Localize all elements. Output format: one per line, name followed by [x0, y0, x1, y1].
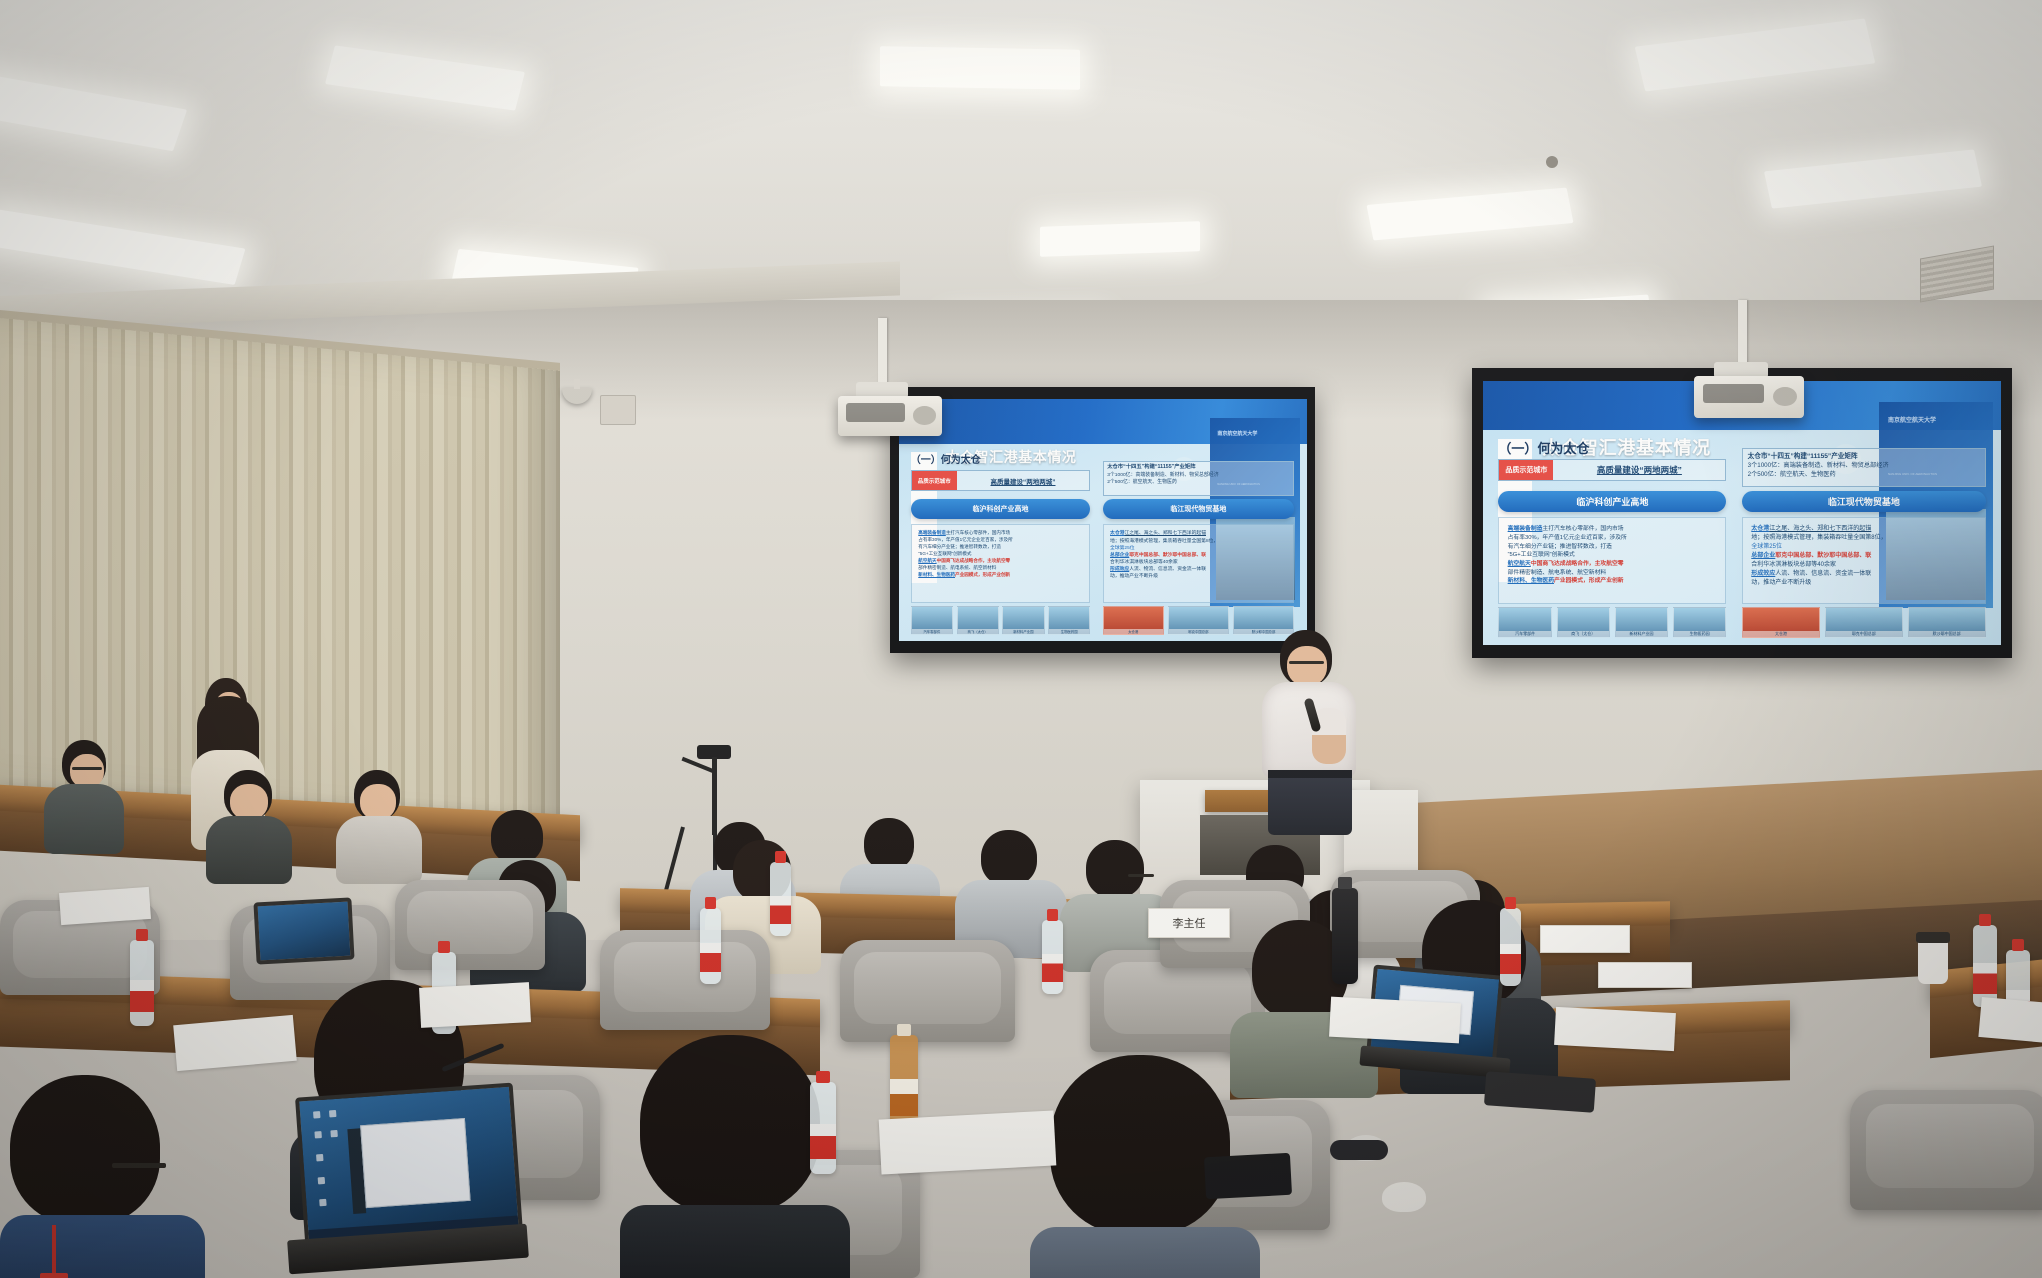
bullet-text: 部件精密制造、航电系统、航空新材料	[918, 565, 1082, 572]
tea-bottle[interactable]	[890, 1035, 918, 1131]
thumbnail-caption: 太仓港	[1743, 631, 1819, 637]
attendee-torso	[1030, 1227, 1260, 1278]
presenter-belt	[1268, 770, 1352, 778]
notepad[interactable]	[879, 1110, 1057, 1174]
bottle-label	[700, 943, 721, 972]
glasses-icon	[1128, 874, 1154, 877]
smartphone[interactable]	[1204, 1153, 1292, 1199]
id-badge	[40, 1273, 68, 1278]
bullet-text: 中国商飞达成战略合作，主攻航空零	[937, 558, 1011, 563]
chair	[600, 930, 770, 1030]
attendee-torso	[44, 784, 124, 854]
bullet-text: “5G+工业互联网”创新模式	[918, 551, 1082, 558]
attendee-face	[360, 784, 396, 820]
thumbnail: 太仓港	[1103, 606, 1164, 635]
block-key: 形成效应	[1751, 571, 1775, 577]
block-text: 耶克中国总部、默沙耶中国总部、联	[1775, 553, 1871, 559]
right-column-heading: 临江现代物贸基地	[1103, 499, 1295, 518]
attendee-head	[1050, 1055, 1230, 1235]
block-text: 地；按照海港模式管理，集装箱吞吐量全国第8位，	[1751, 534, 1976, 543]
thumbnail: 耶克中国总部	[1825, 607, 1903, 639]
tablet-device[interactable]	[1484, 1071, 1596, 1113]
industry-matrix-box: 太仓市“十四五”构建“11155”产业矩阵 3个1000亿：高端装备制造、新材料…	[1103, 461, 1295, 496]
block-text: 江之尾、海之头、郑和七下西洋的起锚	[1769, 526, 1871, 532]
lanyard	[52, 1225, 56, 1277]
ceiling-light-panel	[0, 73, 187, 152]
water-bottle[interactable]	[770, 862, 791, 936]
university-name: 南京航空航天大学	[1888, 415, 1936, 424]
ceiling-light-panel	[1040, 221, 1200, 257]
laptop-foreground[interactable]	[295, 1083, 523, 1248]
fact-line: 太仓市“十四五”构建“11155”产业矩阵	[1748, 452, 1980, 462]
name-placard	[1598, 962, 1692, 988]
bottle-label	[1042, 954, 1063, 982]
thumbnail-caption: 默沙耶中国总部	[1909, 631, 1985, 637]
fact-line: 2个500亿：航空航天、生物医药	[1748, 471, 1980, 480]
fact-line: 3个1000亿：高端装备制造、新材料、物贸总部经济	[1748, 462, 1980, 471]
name-placard: 李主任	[1148, 908, 1230, 938]
block-key: 总部企业	[1110, 553, 1129, 558]
ceiling-light-panel	[880, 46, 1080, 89]
ceiling-light-panel	[1635, 19, 1876, 92]
bottle-label	[1973, 963, 1997, 994]
notepad[interactable]	[1554, 1007, 1676, 1051]
desktop-icon	[331, 1130, 338, 1137]
block-key: 形成效应	[1110, 567, 1129, 572]
thumbnail-caption: 新材料产业园	[1003, 629, 1043, 634]
thumbnail: 生物医药园	[1048, 606, 1090, 635]
attendee	[330, 770, 430, 880]
thumbnail: 耶克中国总部	[1168, 606, 1229, 635]
bottle-label	[770, 896, 791, 924]
right-column-body: 太仓港江之尾、海之头、郑和七下西洋的起锚 地；按照海港模式管理，集装箱吞吐量全国…	[1103, 524, 1295, 604]
ceiling-light-panel	[1764, 149, 1982, 208]
left-thumbnail-strip: 汽车零部件 商飞（太仓） 新材料产业园 生物医药园	[1498, 607, 1726, 639]
block-key: 总部企业	[1751, 553, 1775, 559]
left-column-heading: 临沪科创产业高地	[1498, 491, 1726, 512]
block-text: 人流、物流、信息流、资金流一体联	[1129, 567, 1206, 572]
laptop-mid[interactable]	[253, 897, 354, 964]
bottle-label	[810, 1124, 836, 1159]
tripod-pan-handle	[681, 757, 714, 773]
right-column-body: 太仓港江之尾、海之头、郑和七下西洋的起锚 地；按照海港模式管理，集装箱吞吐量全国…	[1742, 517, 1986, 604]
bottle-cap	[897, 1024, 912, 1036]
block-text: 动，推动产业不断升级	[1110, 573, 1287, 580]
thumbnail: 默沙耶中国总部	[1908, 607, 1986, 639]
block-text: 动，推动产业不断升级	[1751, 579, 1976, 588]
cup-lid	[1916, 932, 1950, 943]
notepad[interactable]	[1329, 997, 1461, 1044]
bullet-key: 高端装备制造	[1508, 526, 1543, 532]
fact-line: 太仓市“十四五”构建“11155”产业矩阵	[1107, 464, 1289, 472]
water-bottle[interactable]	[1042, 920, 1063, 994]
bottle-cap	[775, 851, 786, 863]
notepad[interactable]	[59, 887, 151, 925]
bullet-text: 有汽车细分产业链；推进智转数改，打造	[1508, 543, 1718, 552]
bottle-cap	[438, 941, 450, 953]
slide-left: 一 太仓智汇港基本情况 南京航空航天大学 NANJING UNIV. OF AE…	[899, 399, 1307, 641]
bullet-key: 新材料、生物医药	[918, 572, 955, 577]
attendee-foreground-left	[0, 1075, 210, 1278]
fire-sprinkler	[1546, 156, 1558, 168]
left-thumbnail-strip: 汽车零部件 商飞（太仓） 新材料产业园 生物医药园	[911, 606, 1091, 635]
fact-line: 3个1000亿：高端装备制造、新材料、物贸总部经济	[1107, 472, 1289, 479]
bottle-label	[890, 1079, 918, 1115]
attendee-head	[1086, 840, 1144, 898]
attendee-head	[640, 1035, 820, 1215]
thumbnail-caption: 商飞（太仓）	[1558, 631, 1610, 637]
thumbnail-caption: 太仓港	[1104, 629, 1163, 634]
thumbnail: 生物医药园	[1673, 607, 1727, 639]
bullet-key: 航空航天	[1508, 561, 1531, 567]
thumbnail-caption: 生物医药园	[1049, 629, 1089, 634]
ceiling-light-panel	[325, 45, 525, 110]
attendee-torso	[336, 816, 422, 884]
desktop-icon	[313, 1111, 320, 1118]
chair	[395, 880, 545, 970]
attendee-torso	[206, 816, 292, 884]
water-bottle[interactable]	[130, 940, 154, 1026]
coffee-cup[interactable]	[1918, 940, 1948, 984]
water-bottle[interactable]	[810, 1082, 836, 1174]
notepad[interactable]	[419, 982, 531, 1028]
block-text: 全球第25位	[1110, 545, 1287, 552]
bottle-cap	[1047, 909, 1058, 921]
chair	[840, 940, 1015, 1042]
industry-matrix-box: 太仓市“十四五”构建“11155”产业矩阵 3个1000亿：高端装备制造、新材料…	[1742, 448, 1986, 486]
attendee-torso	[620, 1205, 850, 1278]
ceiling-light-panel	[1367, 188, 1574, 241]
desktop-icon	[314, 1131, 321, 1138]
bullet-text: 部件精密制造、航电系统、航空新材料	[1508, 569, 1718, 578]
microphone-base[interactable]	[1330, 1140, 1388, 1160]
glasses-icon	[1289, 661, 1324, 664]
desktop-icon	[329, 1110, 336, 1117]
block-key: 太仓港	[1110, 531, 1124, 536]
bottle-cap	[1979, 914, 1991, 926]
desktop-icon	[317, 1177, 324, 1184]
attendee-face	[230, 784, 268, 820]
fact-line: 2个500亿：航空航天、生物医药	[1107, 479, 1289, 486]
thumbnail: 新材料产业园	[1002, 606, 1044, 635]
quality-city-text: 高质量建设“两地两城”	[957, 476, 1090, 486]
desktop-icon	[316, 1154, 323, 1161]
bullet-key: 航空航天	[918, 558, 936, 563]
quality-city-tag-row: 品质示范城市 高质量建设“两地两城”	[1498, 459, 1726, 481]
projection-screen-left: 一 太仓智汇港基本情况 南京航空航天大学 NANJING UNIV. OF AE…	[890, 387, 1315, 653]
thumbnail-caption: 汽车零部件	[912, 629, 952, 634]
laptop-screen	[253, 897, 354, 964]
thumbnail-caption: 汽车零部件	[1499, 631, 1551, 637]
notepad[interactable]	[1978, 997, 2042, 1043]
thumbnail: 太仓港	[1742, 607, 1820, 639]
attendee-head	[491, 810, 543, 864]
ceiling-light-panel	[0, 209, 245, 285]
bottle-cap	[705, 897, 716, 909]
presenter-face	[1287, 646, 1327, 686]
bullet-text: 产业园模式，形成产业创新	[955, 572, 1010, 577]
attendee	[40, 740, 130, 850]
presenter-trousers	[1268, 773, 1352, 835]
thumbnail: 商飞（太仓）	[957, 606, 999, 635]
thumbnail-caption: 新材料产业园	[1616, 631, 1668, 637]
thermos-bottle[interactable]	[1332, 888, 1358, 984]
block-text: 江之尾、海之头、郑和七下西洋的起锚	[1124, 531, 1206, 536]
left-column-body: 高端装备制造主打汽车核心零部件，国内市场 占有率30%，年产值1亿元企业近百家，…	[1498, 517, 1726, 604]
water-bottle[interactable]	[700, 908, 721, 984]
laptop-screen	[295, 1083, 523, 1248]
attendee-head	[10, 1075, 160, 1225]
water-bottle[interactable]	[1500, 908, 1521, 986]
right-column-heading: 临江现代物贸基地	[1742, 491, 1986, 512]
thumbnail: 商飞（太仓）	[1557, 607, 1611, 639]
water-bottle[interactable]	[1973, 925, 1997, 1007]
bottle-cap	[1505, 897, 1516, 909]
quality-city-text: 高质量建设“两地两城”	[1553, 464, 1725, 476]
notepad[interactable]	[173, 1015, 297, 1071]
open-window	[360, 1118, 470, 1207]
quality-city-badge: 品质示范城市	[912, 471, 957, 490]
bullet-text: “5G+工业互联网”创新模式	[1508, 551, 1718, 560]
thumbnail-caption: 耶克中国总部	[1169, 629, 1228, 634]
attendee-head	[981, 830, 1037, 886]
thumbnail: 汽车零部件	[911, 606, 953, 635]
bullet-text: 占有率30%，年产值1亿元企业近百家，涉及所	[1508, 534, 1718, 543]
bullet-text: 中国商飞达成战略合作，主攻航空零	[1531, 561, 1624, 567]
slide-subtitle: （一）何为太仓	[1498, 438, 1589, 457]
chair	[1850, 1090, 2042, 1210]
glasses-icon	[72, 767, 102, 770]
quality-city-tag-row: 品质示范城市 高质量建设“两地两城”	[911, 470, 1091, 491]
presenter	[1250, 630, 1380, 830]
bullet-text: 有汽车细分产业链；推进智转数改，打造	[918, 544, 1082, 551]
thumbnail-caption: 商飞（太仓）	[958, 629, 998, 634]
slide-subtitle: （一）何为太仓	[911, 451, 981, 466]
wall-speaker	[600, 395, 636, 425]
attendee-torso	[0, 1215, 205, 1278]
bottle-cap	[2012, 939, 2024, 951]
thumbnail: 新材料产业园	[1615, 607, 1669, 639]
bottle-cap	[136, 929, 148, 941]
block-text: 耶克中国总部、默沙耶中国总部、联	[1129, 553, 1206, 558]
computer-mouse[interactable]	[1382, 1182, 1426, 1212]
block-key: 太仓港	[1751, 526, 1769, 532]
projector-mount-pole	[878, 318, 887, 388]
bottle-cap	[1338, 877, 1352, 889]
university-name: 南京航空航天大学	[1217, 430, 1257, 437]
block-text: 合利华冰淇淋板块总部等40余家	[1110, 559, 1287, 566]
thumbnail: 汽车零部件	[1498, 607, 1552, 639]
bullet-key: 新材料、生物医药	[1508, 578, 1554, 584]
slide-right: 一 太仓智汇港基本情况 南京航空航天大学 NANJING UNIV. OF AE…	[1483, 381, 2001, 645]
right-thumbnail-strip: 太仓港 耶克中国总部 默沙耶中国总部	[1742, 607, 1986, 639]
bullet-text: 产业园模式，形成产业创新	[1554, 578, 1624, 584]
name-placard	[1540, 925, 1630, 953]
thumbnail-caption: 耶克中国总部	[1826, 631, 1902, 637]
attendee	[200, 770, 300, 880]
glasses-icon	[112, 1163, 166, 1168]
projector-right	[1694, 376, 1804, 418]
bottle-label	[130, 980, 154, 1013]
bullet-text: 主打汽车核心零部件，国内市场	[1542, 526, 1623, 532]
projector-mount-pole	[1738, 300, 1747, 368]
quality-city-badge: 品质示范城市	[1499, 460, 1553, 480]
left-column-heading: 临沪科创产业高地	[911, 499, 1091, 518]
bottle-cap	[816, 1071, 830, 1083]
attendee-face	[70, 754, 104, 788]
bullet-text: 主打汽车核心零部件，国内市场	[946, 530, 1010, 535]
thumbnail-caption: 生物医药园	[1674, 631, 1726, 637]
left-column-body: 高端装备制造主打汽车核心零部件，国内市场 占有率30%，年产值1亿元企业近百家，…	[911, 524, 1091, 604]
block-text: 人流、物流、信息流、资金流一体联	[1775, 571, 1871, 577]
conference-room-scene: 一 太仓智汇港基本情况 南京航空航天大学 NANJING UNIV. OF AE…	[0, 0, 2042, 1278]
block-text: 全球第25位	[1751, 543, 1976, 552]
block-text: 合利华冰淇淋板块总部等40余家	[1751, 561, 1976, 570]
bullet-key: 高端装备制造	[918, 530, 946, 535]
projector-left	[838, 396, 942, 436]
bottle-label	[1500, 944, 1521, 974]
block-text: 地；按照海港模式管理，集装箱吞吐量全国第8位，	[1110, 538, 1287, 545]
attendee-head	[864, 818, 914, 870]
desktop-icon	[319, 1199, 326, 1206]
